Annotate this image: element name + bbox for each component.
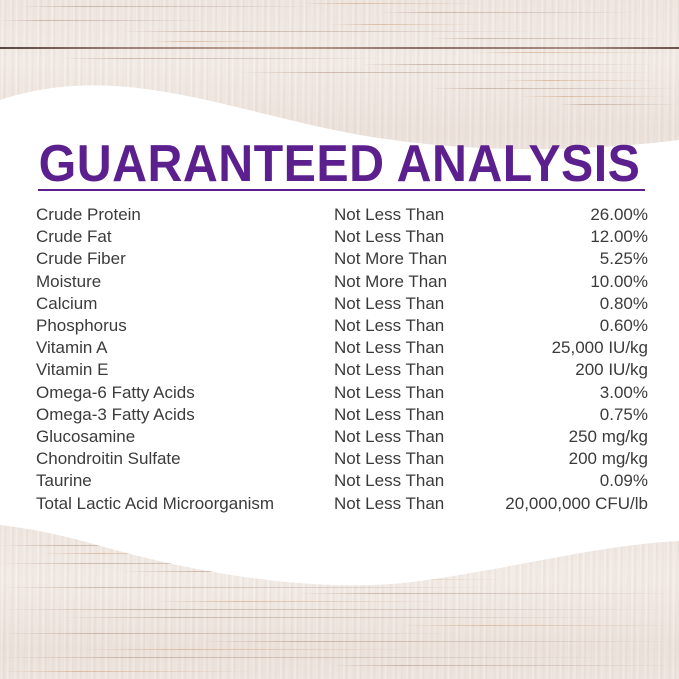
nutrient-qualifier: Not Less Than xyxy=(334,493,484,515)
nutrient-name: Omega-6 Fatty Acids xyxy=(36,382,334,404)
bottom-wood-texture xyxy=(0,519,679,679)
nutrient-name: Vitamin E xyxy=(36,359,334,381)
table-row: Vitamin E Not Less Than 200 IU/kg xyxy=(36,359,648,381)
nutrient-amount: 3.00% xyxy=(484,382,648,404)
nutrient-amount: 0.60% xyxy=(484,315,648,337)
nutrient-name: Crude Fat xyxy=(36,226,334,248)
table-row: Glucosamine Not Less Than 250 mg/kg xyxy=(36,426,648,448)
page-title: GUARANTEED ANALYSIS xyxy=(24,138,655,190)
table-row: Crude Fat Not Less Than 12.00% xyxy=(36,226,648,248)
nutrient-qualifier: Not Less Than xyxy=(334,426,484,448)
nutrient-name: Moisture xyxy=(36,271,334,293)
nutrient-qualifier: Not More Than xyxy=(334,271,484,293)
nutrient-amount: 12.00% xyxy=(484,226,648,248)
nutrient-name: Omega-3 Fatty Acids xyxy=(36,404,334,426)
nutrient-amount: 200 IU/kg xyxy=(484,359,648,381)
table-row: Omega-3 Fatty Acids Not Less Than 0.75% xyxy=(36,404,648,426)
nutrient-amount: 0.09% xyxy=(484,470,648,492)
table-row: Calcium Not Less Than 0.80% xyxy=(36,293,648,315)
nutrient-qualifier: Not Less Than xyxy=(334,448,484,470)
table-row: Total Lactic Acid Microorganism Not Less… xyxy=(36,493,648,515)
analysis-content: GUARANTEED ANALYSIS Crude Protein Not Le… xyxy=(0,120,679,540)
nutrient-amount: 25,000 IU/kg xyxy=(484,337,648,359)
nutrient-qualifier: Not Less Than xyxy=(334,204,484,226)
nutrient-name: Vitamin A xyxy=(36,337,334,359)
nutrient-name: Glucosamine xyxy=(36,426,334,448)
nutrient-name: Calcium xyxy=(36,293,334,315)
nutrient-name: Crude Fiber xyxy=(36,248,334,270)
nutrient-amount: 20,000,000 CFU/lb xyxy=(484,493,648,515)
nutrient-qualifier: Not Less Than xyxy=(334,359,484,381)
table-row: Moisture Not More Than 10.00% xyxy=(36,271,648,293)
nutrient-qualifier: Not Less Than xyxy=(334,404,484,426)
nutrient-qualifier: Not Less Than xyxy=(334,382,484,404)
nutrient-qualifier: Not Less Than xyxy=(334,293,484,315)
nutrient-qualifier: Not Less Than xyxy=(334,337,484,359)
nutrient-amount: 26.00% xyxy=(484,204,648,226)
table-row: Chondroitin Sulfate Not Less Than 200 mg… xyxy=(36,448,648,470)
title-divider-rule xyxy=(38,189,645,191)
nutrient-qualifier: Not Less Than xyxy=(334,315,484,337)
table-row: Taurine Not Less Than 0.09% xyxy=(36,470,648,492)
table-row: Crude Fiber Not More Than 5.25% xyxy=(36,248,648,270)
guaranteed-analysis-label: GUARANTEED ANALYSIS Crude Protein Not Le… xyxy=(0,0,679,679)
nutrient-qualifier: Not Less Than xyxy=(334,470,484,492)
nutrient-qualifier: Not Less Than xyxy=(334,226,484,248)
nutrient-name: Total Lactic Acid Microorganism xyxy=(36,493,334,515)
nutrient-amount: 250 mg/kg xyxy=(484,426,648,448)
nutrient-name: Crude Protein xyxy=(36,204,334,226)
table-row: Phosphorus Not Less Than 0.60% xyxy=(36,315,648,337)
table-row: Vitamin A Not Less Than 25,000 IU/kg xyxy=(36,337,648,359)
nutrient-qualifier: Not More Than xyxy=(334,248,484,270)
nutrient-amount: 200 mg/kg xyxy=(484,448,648,470)
nutrient-amount: 0.80% xyxy=(484,293,648,315)
guaranteed-analysis-table: Crude Protein Not Less Than 26.00% Crude… xyxy=(36,204,648,515)
nutrient-name: Chondroitin Sulfate xyxy=(36,448,334,470)
table-body: Crude Protein Not Less Than 26.00% Crude… xyxy=(36,204,648,515)
bottom-wave-divider xyxy=(0,519,679,679)
table-row: Omega-6 Fatty Acids Not Less Than 3.00% xyxy=(36,382,648,404)
table-row: Crude Protein Not Less Than 26.00% xyxy=(36,204,648,226)
nutrient-name: Phosphorus xyxy=(36,315,334,337)
nutrient-amount: 0.75% xyxy=(484,404,648,426)
nutrient-name: Taurine xyxy=(36,470,334,492)
nutrient-amount: 5.25% xyxy=(484,248,648,270)
nutrient-amount: 10.00% xyxy=(484,271,648,293)
